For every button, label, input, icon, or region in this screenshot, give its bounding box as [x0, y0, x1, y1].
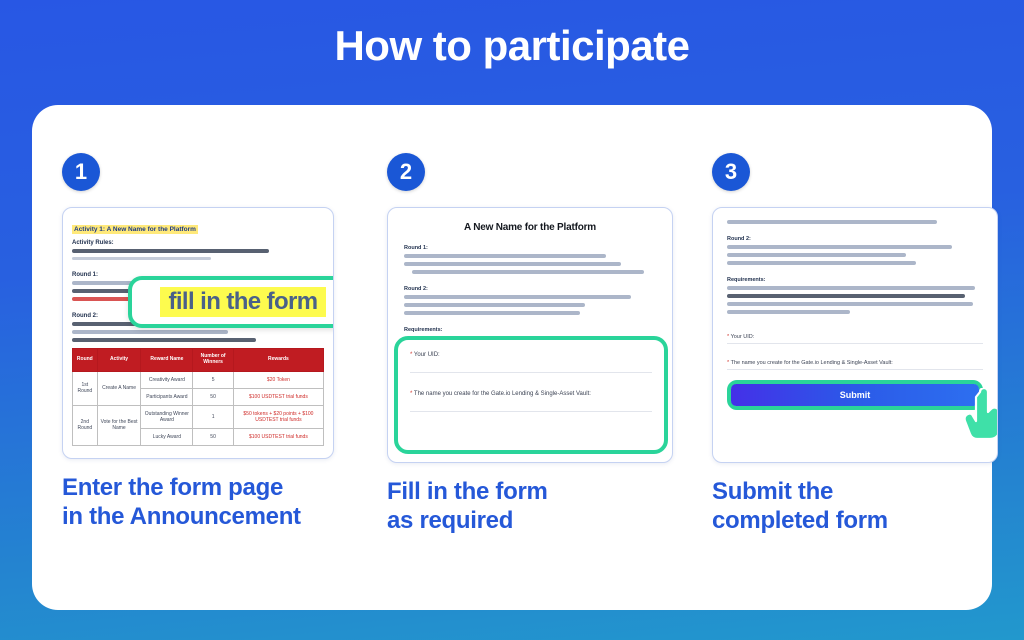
spacer: [727, 318, 983, 326]
cell-winners: 1: [193, 405, 234, 428]
table-row: 1st Round Create A Name Creativity Award…: [73, 371, 324, 388]
name-input-3[interactable]: [727, 369, 983, 370]
required-marker: *: [727, 360, 729, 366]
th-round: Round: [73, 349, 98, 372]
step-3: 3 Round 2: Requirements: * Your UID:: [712, 153, 1012, 536]
round2-line: [72, 338, 256, 342]
spacer: [727, 228, 983, 236]
step-2: 2 A New Name for the Platform Round 1: R…: [387, 153, 687, 536]
cell-winners: 5: [193, 371, 234, 388]
submit-highlight: Submit: [727, 380, 983, 410]
th-reward-name: Reward Name: [141, 349, 193, 372]
cell-rewards: $50 tokens + $20 points + $100 USDTEST t…: [233, 405, 323, 428]
cell-reward-name: Creativity Award: [141, 371, 193, 388]
page-title: How to participate: [0, 22, 1024, 70]
uid-field-label: * Your UID:: [410, 352, 652, 358]
name-input[interactable]: [410, 411, 652, 412]
cell-round: 1st Round: [73, 371, 98, 405]
spacer: [404, 319, 656, 327]
rules-line: [72, 257, 211, 260]
cell-activity: Create A Name: [97, 371, 141, 405]
spacer: [727, 269, 983, 277]
round1-line: [404, 262, 621, 266]
th-rewards: Rewards: [233, 349, 323, 372]
requirements-label: Requirements:: [404, 327, 656, 333]
rules-line: [72, 249, 269, 253]
callout-label: fill in the form: [160, 287, 325, 317]
activity-rules-label: Activity Rules:: [72, 240, 324, 246]
uid-input[interactable]: [410, 372, 652, 373]
cell-winners: 50: [193, 388, 234, 405]
th-activity: Activity: [97, 349, 141, 372]
name-label-text: The name you create for the Gate.io Lend…: [414, 391, 591, 397]
step-1: 1 Activity 1: A New Name for the Platfor…: [62, 153, 362, 532]
round2-line: [727, 253, 906, 257]
table-header-row: Round Activity Reward Name Number of Win…: [73, 349, 324, 372]
spacer: [727, 344, 983, 352]
requirement-line: [727, 286, 975, 290]
cell-activity: Vote for the Best Name: [97, 405, 141, 445]
step-number-badge-2: 2: [387, 153, 425, 191]
required-marker: *: [727, 334, 729, 340]
step-number-badge-1: 1: [62, 153, 100, 191]
round1-line: [412, 270, 644, 274]
round1-label: Round 1:: [404, 245, 656, 251]
main-panel: 1 Activity 1: A New Name for the Platfor…: [32, 105, 992, 610]
cell-rewards: $20 Token: [233, 371, 323, 388]
round2-line: [404, 311, 580, 315]
round2-line: [404, 303, 585, 307]
steps-container: 1 Activity 1: A New Name for the Platfor…: [32, 105, 992, 610]
required-marker: *: [410, 391, 412, 397]
th-winners: Number of Winners: [193, 349, 234, 372]
round2-line: [404, 295, 631, 299]
cell-round: 2nd Round: [73, 405, 98, 445]
name-label-text-3: The name you create for the Gate.io Lend…: [731, 360, 893, 366]
announcement-screenshot[interactable]: Activity 1: A New Name for the Platform …: [62, 207, 334, 459]
requirement-line: [727, 302, 973, 306]
pointing-hand-cursor: [963, 388, 998, 440]
round2-line: [727, 245, 952, 249]
fill-in-the-form-callout: fill in the form: [128, 276, 334, 328]
table-row: 2nd Round Vote for the Best Name Outstan…: [73, 405, 324, 428]
top-line: [727, 220, 937, 224]
round1-line: [404, 254, 606, 258]
step-number-badge-3: 3: [712, 153, 750, 191]
round2-label: Round 2:: [727, 236, 983, 242]
requirement-line: [727, 310, 850, 314]
requirement-line: [727, 294, 965, 298]
cell-rewards: $100 USDTEST trial funds: [233, 428, 323, 445]
spacer: [72, 264, 324, 272]
spacer: [404, 278, 656, 286]
uid-label-text: Your UID:: [414, 352, 440, 358]
step-caption-1: Enter the form page in the Announcement: [62, 473, 362, 532]
form-screenshot[interactable]: A New Name for the Platform Round 1: Rou…: [387, 207, 673, 463]
cell-reward-name: Outstanding Winner Award: [141, 405, 193, 428]
spacer: [727, 326, 983, 334]
round2-label: Round 2:: [404, 286, 656, 292]
round2-line: [72, 330, 228, 334]
rewards-table: Round Activity Reward Name Number of Win…: [72, 348, 324, 446]
uid-label-text-3: Your UID:: [731, 334, 755, 340]
required-marker: *: [410, 352, 412, 358]
round2-line: [727, 261, 916, 265]
form-title: A New Name for the Platform: [404, 222, 656, 233]
requirements-label: Requirements:: [727, 277, 983, 283]
submit-screenshot[interactable]: Round 2: Requirements: * Your UID:: [712, 207, 998, 463]
cell-reward-name: Lucky Award: [141, 428, 193, 445]
submit-button[interactable]: Submit: [731, 384, 979, 406]
cell-rewards: $100 USDTEST trial funds: [233, 388, 323, 405]
step-caption-3: Submit the completed form: [712, 477, 1012, 536]
spacer: [727, 352, 983, 360]
announcement-heading: Activity 1: A New Name for the Platform: [72, 225, 198, 234]
uid-field-label-3: * Your UID:: [727, 334, 983, 340]
name-field-label-3: * The name you create for the Gate.io Le…: [727, 360, 983, 366]
name-field-group: * The name you create for the Gate.io Le…: [410, 391, 652, 412]
step-caption-2: Fill in the form as required: [387, 477, 687, 536]
name-field-label: * The name you create for the Gate.io Le…: [410, 391, 652, 397]
cell-winners: 50: [193, 428, 234, 445]
cell-reward-name: Participants Award: [141, 388, 193, 405]
uid-field-group: * Your UID:: [410, 352, 652, 373]
form-fields-highlight: * Your UID: * The name you create for th…: [394, 336, 668, 454]
